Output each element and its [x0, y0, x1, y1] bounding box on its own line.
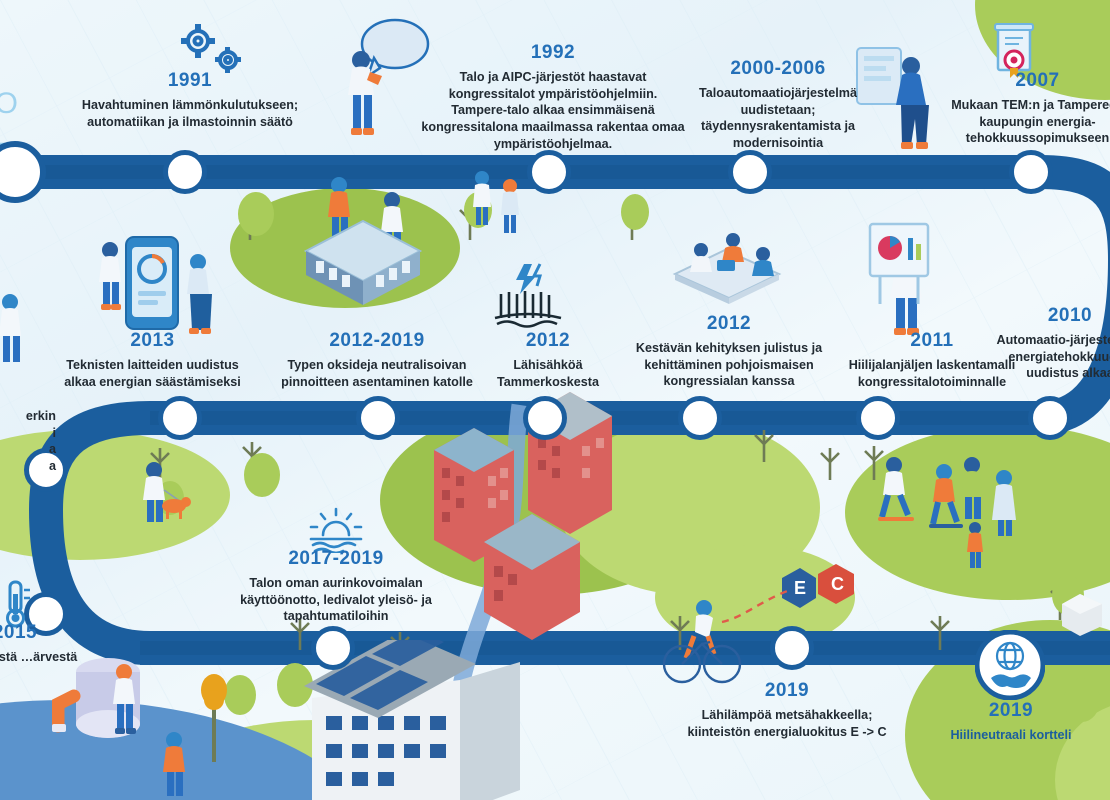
- rooftop-icon: [300, 215, 426, 310]
- entry-year: 2017-2019: [236, 548, 436, 570]
- entry-2012-hydro: 2012 Lähisähköä Tammerkoskesta: [478, 330, 618, 390]
- entry-year: 2000-2006: [678, 58, 878, 80]
- entry-year: 2012: [618, 313, 840, 335]
- chart-board-icon: [868, 222, 950, 308]
- entry-description: Typen oksideja neutralisoivan pinnoittee…: [272, 357, 482, 390]
- entry-year: 1991: [60, 70, 320, 92]
- timeline-node-1992[interactable]: [527, 150, 571, 194]
- entry-2012-declaration: 2012 Kestävän kehityksen julistus ja keh…: [618, 313, 840, 390]
- infographic-canvas: LO LL: [0, 0, 1110, 800]
- timeline-node-2017-2019[interactable]: [311, 626, 355, 670]
- edge-fragment-left: erkin i a a: [0, 408, 56, 475]
- entry-description: Havahtuminen lämmönkulutukseen; automati…: [60, 97, 320, 130]
- timeline-node-2013[interactable]: [158, 396, 202, 440]
- entry-year: 2015: [0, 622, 78, 644]
- entry-year: 2007: [930, 70, 1110, 92]
- smartphone-icon: [120, 235, 184, 333]
- meeting-table-icon: [655, 228, 795, 310]
- timeline-node-2012-2019[interactable]: [356, 396, 400, 440]
- entry-year: 2019: [938, 700, 1084, 722]
- entry-description: Kestävän kehityksen julistus ja kehittäm…: [618, 340, 840, 390]
- entry-description: Taloautomaatiojärjestelmä uudistetaan; t…: [678, 85, 878, 152]
- timeline-node-2012-hydro[interactable]: [523, 396, 567, 440]
- entry-1991: 1991 Havahtuminen lämmönkulutukseen; aut…: [60, 70, 320, 130]
- entry-description: Lähisähköä Tammerkoskesta: [478, 357, 618, 390]
- entry-2019-heat: 2019 Lähilämpöä metsähakkeella; kiinteis…: [676, 680, 898, 740]
- entry-2019-carbon-neutral: 2019 Hiilineutraali kortteli: [938, 700, 1084, 744]
- entry-2000-2006: 2000-2006 Taloautomaatiojärjestelmä uudi…: [678, 58, 878, 152]
- entry-year: 2019: [676, 680, 898, 702]
- entry-2015: 2015 …ndytystä …ärvestä: [0, 622, 78, 666]
- entry-year: 2012-2019: [272, 330, 482, 352]
- entry-description: …ndytystä …ärvestä: [0, 649, 78, 666]
- entry-description: Lähilämpöä metsähakkeella; kiinteistön e…: [676, 707, 898, 740]
- gears-icon: [172, 22, 252, 77]
- globe-handshake-icon: [975, 630, 1045, 700]
- entry-2017-2019: 2017-2019 Talon oman aurinkovoimalan käy…: [236, 548, 436, 625]
- timeline-node-2011[interactable]: [856, 396, 900, 440]
- entry-2007: 2007 Mukaan TEM:n ja Tampereen kaupungin…: [930, 70, 1110, 147]
- entry-description: Talon oman aurinkovoimalan käyttöönotto,…: [236, 575, 436, 625]
- entry-2012-2019: 2012-2019 Typen oksideja neutralisoivan …: [272, 330, 482, 390]
- entry-year: 2012: [478, 330, 618, 352]
- sunrise-water-icon: [305, 505, 367, 553]
- ec-badge-text-c: C: [831, 574, 844, 594]
- entry-year: 2010: [990, 305, 1110, 327]
- dashed-route-line: [718, 578, 798, 626]
- entry-year: 2013: [50, 330, 255, 352]
- timeline-node-1991[interactable]: [163, 150, 207, 194]
- entry-description: Hiilineutraali kortteli: [938, 727, 1084, 744]
- entry-description: Automaatio-järjestelmän energiatehokkuud…: [990, 332, 1110, 382]
- timeline-node-2010[interactable]: [1028, 396, 1072, 440]
- entry-1992: 1992 Talo ja AIPC-järjestöt haastavat ko…: [420, 42, 686, 153]
- entry-description: Teknisten laitteiden uudistus alkaa ener…: [50, 357, 255, 390]
- timeline-node-2019-heat[interactable]: [770, 626, 814, 670]
- entry-description: Talo ja AIPC-järjestöt haastavat kongres…: [420, 69, 686, 153]
- edge-fragment-text: erkin i a a: [0, 408, 56, 475]
- timeline-node-2007[interactable]: [1009, 150, 1053, 194]
- lightning-icon: [510, 262, 550, 296]
- megaphone-icon: [338, 14, 430, 142]
- entry-year: 1992: [420, 42, 686, 64]
- timeline-node-2000-2006[interactable]: [728, 150, 772, 194]
- timeline-node-2012-declaration[interactable]: [678, 396, 722, 440]
- entry-2013: 2013 Teknisten laitteiden uudistus alkaa…: [50, 330, 255, 390]
- entry-description: Mukaan TEM:n ja Tampereen kaupungin ener…: [930, 97, 1110, 147]
- entry-2010: 2010 Automaatio-järjestelmän energiateho…: [990, 305, 1110, 382]
